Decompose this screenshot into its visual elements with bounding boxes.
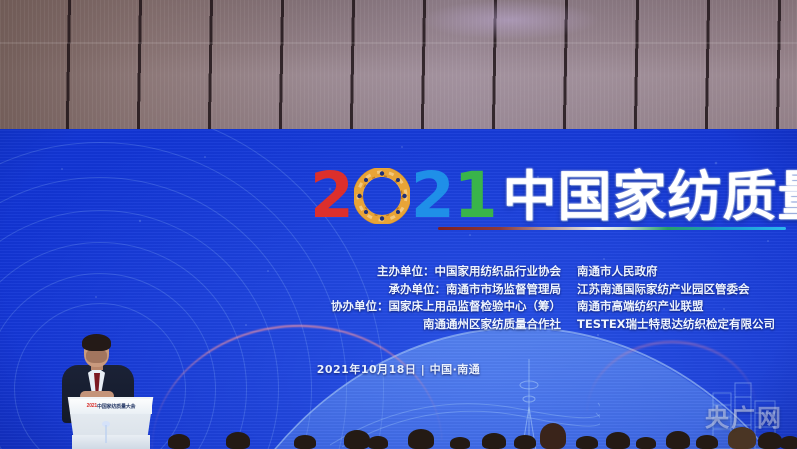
audience-head (168, 434, 190, 449)
organizer-line: 承办单位：南通市市场监督管理局 (296, 281, 561, 299)
podium-logo-year: 2021 (87, 403, 97, 409)
audience-silhouettes (0, 415, 797, 449)
organizer-line: 协办单位：国家床上用品监督检验中心（筹） (296, 298, 561, 316)
year-digit-4: 1 (454, 167, 497, 225)
organizer-line: 主办单位：中国家用纺织品行业协会 (296, 263, 561, 281)
year-digit-3: 2 (411, 167, 454, 225)
audience-head (696, 435, 718, 449)
audience-head (294, 435, 316, 449)
organizer-line: 南通通州区家纺质量合作社 (296, 316, 561, 334)
podium-logo: 2021 中国家纺质量大会 (72, 401, 150, 412)
organizers-column-2: 南通市人民政府 江苏南通国际家纺产业园区管委会 南通市高端纺织产业联盟 TEST… (561, 263, 787, 333)
audience-head (636, 437, 656, 449)
audience-head (408, 429, 434, 449)
screenshot-stage: 2 (0, 0, 797, 449)
ceiling-slat-panels (0, 0, 797, 129)
year-digit-1: 2 (310, 167, 353, 225)
audience-head (758, 432, 782, 449)
audience-head (780, 436, 797, 449)
audience-head (514, 435, 536, 449)
organizers-column-3-cropped: 江 南 (787, 263, 797, 333)
audience-head (482, 433, 506, 449)
speaker-face-shadow (86, 349, 107, 363)
organizer-line: 江苏南通国际家纺产业园区管委会 (577, 281, 787, 299)
organizer-line: TESTEX瑞士特思达纺织检定有限公司 (577, 316, 787, 334)
audience-head (576, 436, 598, 449)
ceiling-panel-seams (0, 0, 797, 129)
ceiling-horizontal-band (0, 42, 797, 44)
organizer-line: 南通市人民政府 (577, 263, 787, 281)
event-title-block: 2 (310, 163, 797, 230)
ceiling-light-glow (420, 0, 600, 40)
audience-head (344, 430, 370, 449)
woven-ring-zero-icon (354, 168, 410, 224)
event-title-chinese: 中国家纺质量 (503, 169, 797, 225)
audience-head (368, 436, 388, 449)
audience-head (540, 423, 566, 449)
audience-head (226, 432, 250, 449)
podium-logo-text: 中国家纺质量大会 (97, 403, 135, 410)
organizers-block: 主办单位：中国家用纺织品行业协会 承办单位：南通市市场监督管理局 协办单位：国家… (296, 263, 797, 333)
broadcaster-watermark: 央广网 (705, 398, 783, 433)
event-title-line: 2 (310, 163, 797, 225)
speaker-hair (82, 334, 111, 351)
audience-head (450, 437, 470, 449)
organizers-column-1: 主办单位：中国家用纺织品行业协会 承办单位：南通市市场监督管理局 协办单位：国家… (296, 263, 561, 333)
organizer-line: 南通市高端纺织产业联盟 (577, 298, 787, 316)
audience-head (606, 432, 630, 449)
audience-head (666, 431, 690, 449)
